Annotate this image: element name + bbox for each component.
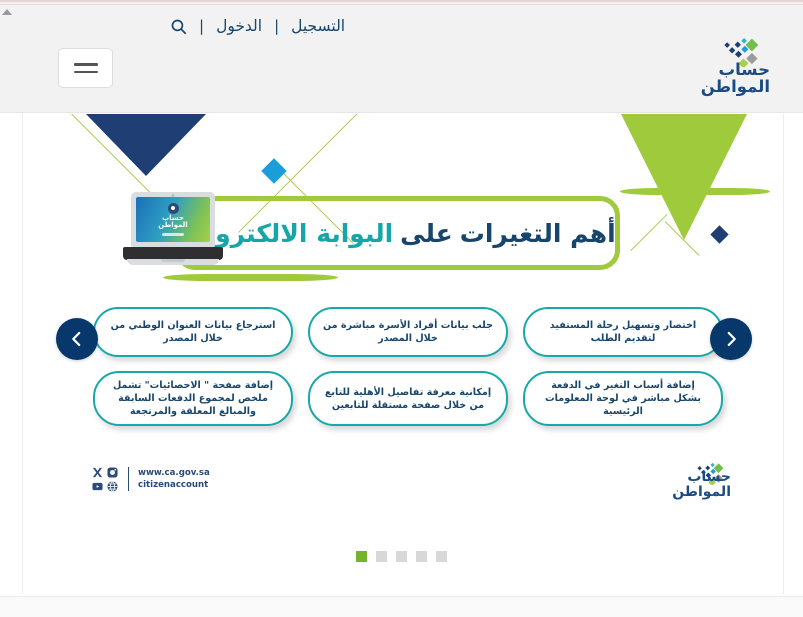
website-url[interactable]: www.ca.gov.sa bbox=[138, 467, 210, 480]
brand-line-1: حساب bbox=[701, 61, 770, 78]
slide-headline: أهم التغيرات على البوابة الالكترونية bbox=[183, 209, 613, 257]
footer-urls: www.ca.gov.sa citizenaccount bbox=[138, 467, 210, 492]
carousel-dot[interactable] bbox=[436, 551, 447, 562]
login-link[interactable]: الدخول bbox=[206, 15, 272, 37]
slide-footer-contact: www.ca.gov.sa citizenaccount bbox=[91, 466, 210, 492]
feature-card-text: استرجاع بيانات العنوان الوطني من خلال ال… bbox=[107, 319, 279, 345]
page-bottom-edge bbox=[0, 596, 803, 617]
chevron-left-icon bbox=[68, 330, 86, 348]
site-header: التسجيل | الدخول | bbox=[0, 5, 803, 113]
headline-prefix: أهم التغيرات bbox=[460, 219, 616, 248]
chevron-right-icon bbox=[722, 330, 740, 348]
hamburger-bar bbox=[74, 71, 98, 74]
caret-marker-icon bbox=[2, 9, 12, 15]
footer-brand-text: حساب المواطن bbox=[672, 470, 731, 499]
decor-green-triangle bbox=[621, 114, 747, 240]
feature-card[interactable]: اختصار وتسهيل رحلة المستفيد لتقديم الطلب bbox=[523, 307, 723, 357]
feature-card-text: إمكانية معرفة تفاصيل الأهلية للتابع من خ… bbox=[322, 386, 494, 412]
footer-brand-line-1: حساب bbox=[672, 470, 731, 485]
social-handle[interactable]: citizenaccount bbox=[138, 479, 210, 492]
footer-brand-line-2: المواطن bbox=[672, 485, 731, 500]
site-logo[interactable]: حساب المواطن bbox=[660, 33, 770, 95]
carousel-indicators bbox=[0, 551, 803, 562]
user-badge-icon bbox=[168, 203, 179, 214]
instagram-icon[interactable] bbox=[106, 466, 119, 479]
youtube-icon[interactable] bbox=[91, 480, 104, 493]
brand-line-2: المواطن bbox=[701, 78, 770, 95]
decor-green-swoosh-top bbox=[620, 188, 770, 195]
feature-card[interactable]: استرجاع بيانات العنوان الوطني من خلال ال… bbox=[93, 307, 293, 357]
laptop-screen: حساب المواطن bbox=[136, 197, 210, 242]
feature-card-text: اختصار وتسهيل رحلة المستفيد لتقديم الطلب bbox=[537, 319, 709, 345]
carousel-dot[interactable] bbox=[416, 551, 427, 562]
carousel-next-button[interactable] bbox=[710, 318, 752, 360]
laptop-lid: حساب المواطن bbox=[131, 192, 215, 247]
carousel-dot[interactable] bbox=[396, 551, 407, 562]
carousel-dot-active[interactable] bbox=[356, 551, 367, 562]
x-twitter-icon[interactable] bbox=[91, 466, 104, 479]
slide-content: أهم التغيرات على البوابة الالكترونية حسا… bbox=[23, 114, 783, 594]
search-button[interactable] bbox=[160, 18, 197, 35]
feature-cards: اختصار وتسهيل رحلة المستفيد لتقديم الطلب… bbox=[83, 307, 733, 426]
slide-footer-logo: حساب المواطن bbox=[641, 459, 731, 499]
page-bottom-strip bbox=[0, 597, 803, 617]
nav-separator: | bbox=[197, 15, 206, 37]
globe-icon[interactable] bbox=[106, 480, 119, 493]
top-accent-line bbox=[0, 0, 803, 2]
feature-card[interactable]: جلب بيانات أفراد الأسرة مباشرة من خلال ا… bbox=[308, 307, 508, 357]
headline-mid: على bbox=[400, 219, 453, 248]
screen-button-shape bbox=[162, 233, 184, 237]
feature-card[interactable]: إضافة أسباب التغير في الدفعة بشكل مباشر … bbox=[523, 371, 723, 426]
nav-separator: | bbox=[272, 15, 281, 37]
feature-card-text: جلب بيانات أفراد الأسرة مباشرة من خلال ا… bbox=[322, 319, 494, 345]
screen-logo-line-2: المواطن bbox=[158, 222, 187, 230]
carousel-slide: أهم التغيرات على البوابة الالكترونية حسا… bbox=[22, 114, 784, 594]
decor-green-swoosh-bottom bbox=[163, 274, 338, 281]
feature-card[interactable]: إضافة صفحة " الاحصائيات" تشمل ملخص لمجمو… bbox=[93, 371, 293, 426]
decor-blue-diamond bbox=[261, 158, 286, 183]
laptop-trackpad-notch bbox=[161, 259, 185, 262]
feature-card[interactable]: إمكانية معرفة تفاصيل الأهلية للتابع من خ… bbox=[308, 371, 508, 426]
hamburger-menu-button[interactable] bbox=[58, 48, 113, 88]
carousel-prev-button[interactable] bbox=[56, 318, 98, 360]
utility-nav: التسجيل | الدخول | bbox=[160, 15, 355, 37]
register-link[interactable]: التسجيل bbox=[281, 15, 355, 37]
brand-text: حساب المواطن bbox=[701, 61, 770, 95]
feature-card-text: إضافة أسباب التغير في الدفعة بشكل مباشر … bbox=[537, 379, 709, 418]
footer-divider bbox=[128, 467, 129, 491]
screen-logo-text: حساب المواطن bbox=[158, 215, 187, 230]
search-icon bbox=[170, 18, 187, 35]
feature-cards-row-1: اختصار وتسهيل رحلة المستفيد لتقديم الطلب… bbox=[83, 307, 733, 357]
laptop-illustration: حساب المواطن bbox=[123, 192, 223, 267]
social-icons-group bbox=[91, 466, 119, 492]
carousel-dot[interactable] bbox=[376, 551, 387, 562]
hamburger-bar bbox=[74, 63, 98, 66]
feature-cards-row-2: إضافة أسباب التغير في الدفعة بشكل مباشر … bbox=[83, 371, 733, 426]
page-root: التسجيل | الدخول | bbox=[0, 0, 803, 617]
feature-card-text: إضافة صفحة " الاحصائيات" تشمل ملخص لمجمو… bbox=[107, 379, 279, 418]
